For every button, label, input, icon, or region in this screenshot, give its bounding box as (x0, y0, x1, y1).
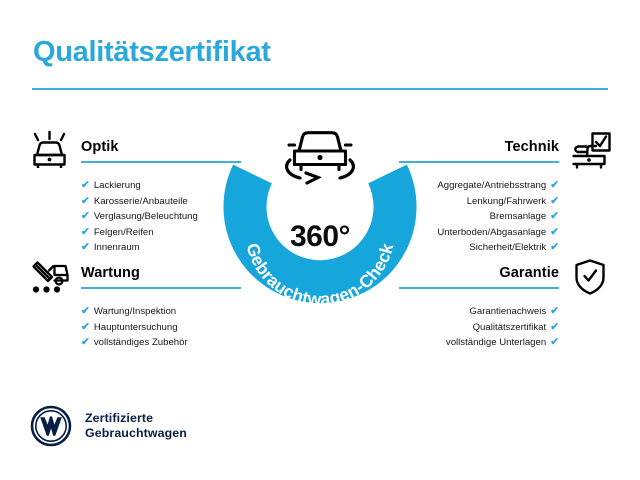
list-item-label: Aggregate/Antriebsstrang (437, 180, 546, 191)
list-item: Lenkung/Fahrwerk✔ (399, 194, 559, 210)
list-item: ✔Felgen/Reifen (81, 225, 241, 241)
check-icon: ✔ (550, 225, 559, 241)
volkswagen-logo (30, 405, 72, 447)
section-title-wrap: Optik (81, 138, 241, 163)
list-item-label: Sicherheit/Elektrik (469, 242, 546, 253)
list-item: Bremsanlage✔ (399, 209, 559, 225)
section-title: Technik (399, 138, 559, 156)
section-title: Wartung (81, 264, 241, 282)
check-icon: ✔ (81, 320, 90, 336)
list-item: Garantienachweis✔ (399, 304, 559, 320)
section-title: Garantie (399, 264, 559, 282)
list-item: Unterboden/Abgasanlage✔ (399, 225, 559, 241)
list-item-label: Felgen/Reifen (94, 227, 154, 238)
page-title: Qualitätszertifikat (33, 36, 271, 69)
check-icon: ✔ (81, 335, 90, 351)
checklist-technik: Aggregate/Antriebsstrang✔ Lenkung/Fahrwe… (399, 178, 614, 256)
list-item-label: Lackierung (94, 180, 141, 191)
section-title-wrap: Garantie (399, 264, 559, 289)
check-icon: ✔ (550, 209, 559, 225)
section-title-wrap: Wartung (81, 264, 241, 289)
list-item: ✔Lackierung (81, 178, 241, 194)
list-item: ✔Wartung/Inspektion (81, 304, 241, 320)
section-header: Technik (399, 128, 614, 172)
section-garantie: Garantie Garantienachweis✔ Qualitätszert… (399, 254, 614, 351)
list-item: ✔Karosserie/Anbauteile (81, 194, 241, 210)
section-title-wrap: Technik (399, 138, 559, 163)
section-title: Optik (81, 138, 241, 156)
car-shine-icon (26, 130, 74, 172)
car-wrench-service-icon (26, 256, 74, 298)
list-item-label: Karosserie/Anbauteile (94, 196, 188, 207)
footer-line-2: Gebrauchtwagen (85, 426, 187, 442)
checklist-optik: ✔Lackierung ✔Karosserie/Anbauteile ✔Verg… (26, 178, 241, 256)
section-underline (399, 161, 559, 163)
checklist-garantie: Garantienachweis✔ Qualitätszertifikat✔ v… (399, 304, 614, 351)
section-technik: Technik Aggregate/Antriebsstrang✔ Lenkun… (399, 128, 614, 256)
list-item-label: Qualitätszertifikat (473, 322, 547, 333)
car-checkbox-icon (566, 130, 614, 172)
list-item-label: Lenkung/Fahrwerk (467, 196, 546, 207)
check-icon: ✔ (550, 304, 559, 320)
list-item-label: vollständiges Zubehör (94, 337, 188, 348)
footer-brand: Zertifizierte Gebrauchtwagen (30, 405, 187, 447)
section-wartung: Wartung ✔Wartung/Inspektion ✔Hauptunters… (26, 254, 241, 351)
check-icon: ✔ (550, 320, 559, 336)
check-icon: ✔ (81, 225, 90, 241)
footer-text: Zertifizierte Gebrauchtwagen (85, 411, 187, 442)
list-item: Qualitätszertifikat✔ (399, 320, 559, 336)
list-item-label: Innenraum (94, 242, 140, 253)
shield-check-icon (566, 256, 614, 298)
list-item-label: Verglasung/Beleuchtung (94, 211, 198, 222)
section-underline (81, 287, 241, 289)
list-item-label: Hauptuntersuchung (94, 322, 178, 333)
check-icon: ✔ (550, 335, 559, 351)
list-item-label: Wartung/Inspektion (94, 306, 176, 317)
section-underline (81, 161, 241, 163)
certificate-page: Qualitätszertifikat (0, 0, 640, 480)
checklist-wartung: ✔Wartung/Inspektion ✔Hauptuntersuchung ✔… (26, 304, 241, 351)
section-underline (399, 287, 559, 289)
check-icon: ✔ (81, 304, 90, 320)
check-icon: ✔ (81, 209, 90, 225)
section-header: Wartung (26, 254, 241, 298)
list-item-label: Garantienachweis (469, 306, 546, 317)
footer-line-1: Zertifizierte (85, 411, 187, 427)
list-item-label: Bremsanlage (490, 211, 547, 222)
title-divider (32, 88, 608, 90)
check-icon: ✔ (550, 194, 559, 210)
list-item: ✔Hauptuntersuchung (81, 320, 241, 336)
check-icon: ✔ (81, 178, 90, 194)
badge-center-label: 360° (222, 220, 418, 254)
list-item-label: vollständige Unterlagen (446, 337, 546, 348)
check-icon: ✔ (550, 178, 559, 194)
list-item: Aggregate/Antriebsstrang✔ (399, 178, 559, 194)
section-header: Optik (26, 128, 241, 172)
section-header: Garantie (399, 254, 614, 298)
check-icon: ✔ (81, 194, 90, 210)
list-item: ✔Verglasung/Beleuchtung (81, 209, 241, 225)
section-optik: Optik ✔Lackierung ✔Karosserie/Anbauteile… (26, 128, 241, 256)
badge-360-gebrauchtwagen-check: Gebrauchtwagen-Check 360° (222, 112, 418, 312)
list-item-label: Unterboden/Abgasanlage (437, 227, 546, 238)
list-item: vollständige Unterlagen✔ (399, 335, 559, 351)
list-item: ✔vollständiges Zubehör (81, 335, 241, 351)
